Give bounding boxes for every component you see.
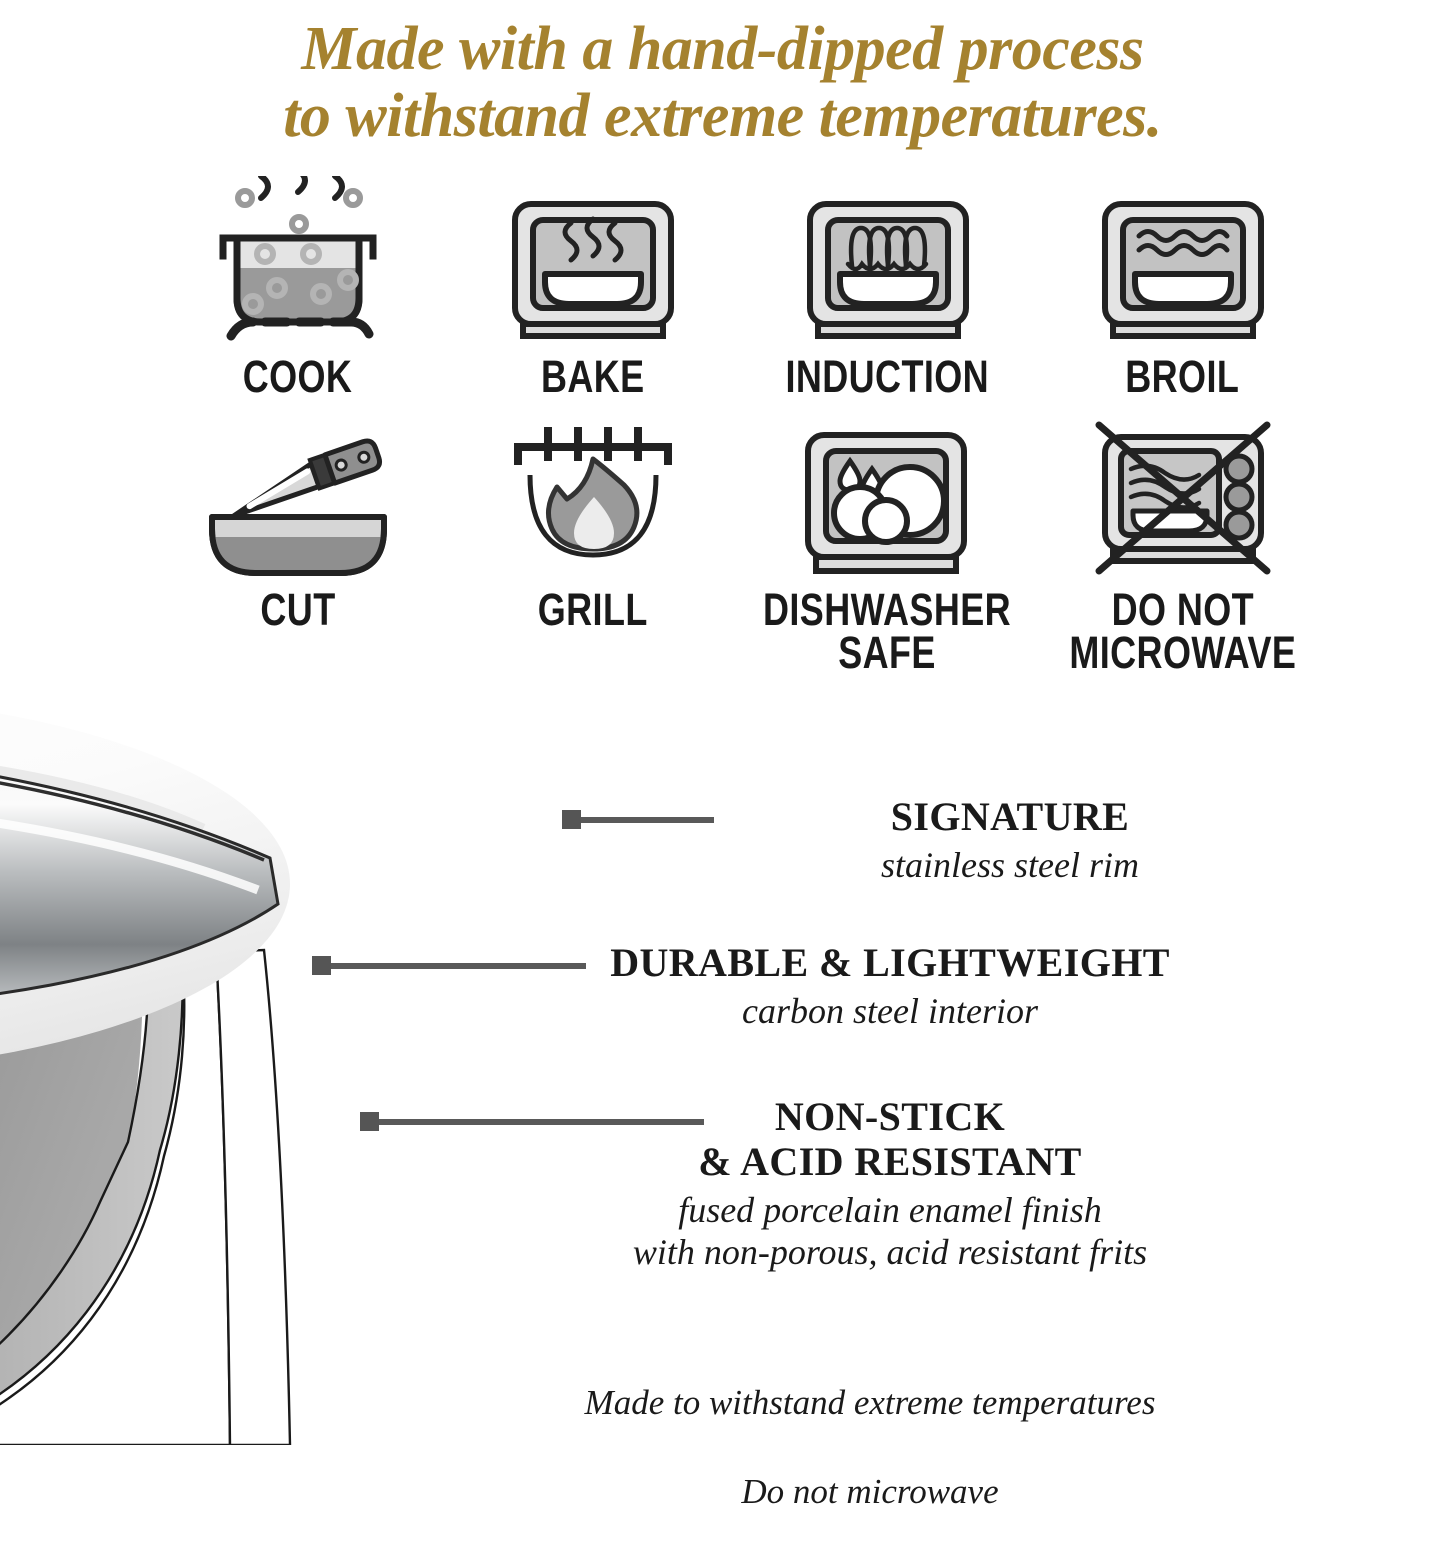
leader-line-durable [316, 963, 586, 969]
capability-label: DO NOT MICROWAVE [1069, 589, 1296, 675]
headline-line-2: to withstand extreme temperatures. [0, 83, 1445, 150]
footer-note: Made to withstand extreme temperatures D… [455, 1336, 1285, 1560]
capability-label: BAKE [541, 356, 645, 399]
capability-cook: COOK [150, 176, 445, 399]
grill-flame-icon [504, 399, 682, 581]
callout-signature: SIGNATURE stainless steel rim [700, 795, 1320, 886]
callout-durable-lightweight: DURABLE & LIGHTWEIGHT carbon steel inter… [580, 941, 1200, 1032]
capability-induction: INDUCTION [740, 176, 1035, 399]
callout-non-stick: NON-STICK & ACID RESISTANT fused porcela… [545, 1095, 1235, 1274]
capability-no-microwave: DO NOT MICROWAVE [1035, 399, 1330, 675]
cooking-pot-icon [203, 176, 393, 348]
capability-dishwasher-safe: DISHWASHER SAFE [740, 399, 1035, 675]
oven-broil-icon [1099, 176, 1267, 348]
capability-bake: BAKE [445, 176, 740, 399]
infographic-canvas: Made with a hand-dipped process to withs… [0, 0, 1445, 1445]
capability-label: INDUCTION [786, 356, 990, 399]
no-microwave-icon [1093, 399, 1273, 581]
capability-label: DISHWASHER SAFE [763, 589, 1011, 675]
callout-title: SIGNATURE [700, 795, 1320, 840]
oven-bake-icon [509, 176, 677, 348]
capability-broil: BROIL [1035, 176, 1330, 399]
capability-label: COOK [243, 356, 353, 399]
page-title: Made with a hand-dipped process to withs… [0, 16, 1445, 150]
callout-subtitle: carbon steel interior [580, 990, 1200, 1032]
icon-row-1: COOK BAKE [150, 176, 1330, 399]
headline-line-1: Made with a hand-dipped process [0, 16, 1445, 83]
knife-cut-icon [198, 399, 398, 581]
cookware-illustration [0, 622, 630, 1445]
capability-icon-grid: COOK BAKE [150, 176, 1330, 674]
leader-line-signature [566, 817, 714, 823]
footer-line-1: Made to withstand extreme temperatures [455, 1381, 1285, 1426]
callout-title: DURABLE & LIGHTWEIGHT [580, 941, 1200, 986]
dishwasher-safe-icon [802, 399, 974, 581]
callout-title: NON-STICK & ACID RESISTANT [545, 1095, 1235, 1185]
capability-label: BROIL [1126, 356, 1240, 399]
callout-subtitle: stainless steel rim [700, 844, 1320, 886]
footer-line-2: Do not microwave [455, 1470, 1285, 1515]
induction-oven-icon [804, 176, 972, 348]
callout-subtitle: fused porcelain enamel finish with non-p… [545, 1189, 1235, 1274]
